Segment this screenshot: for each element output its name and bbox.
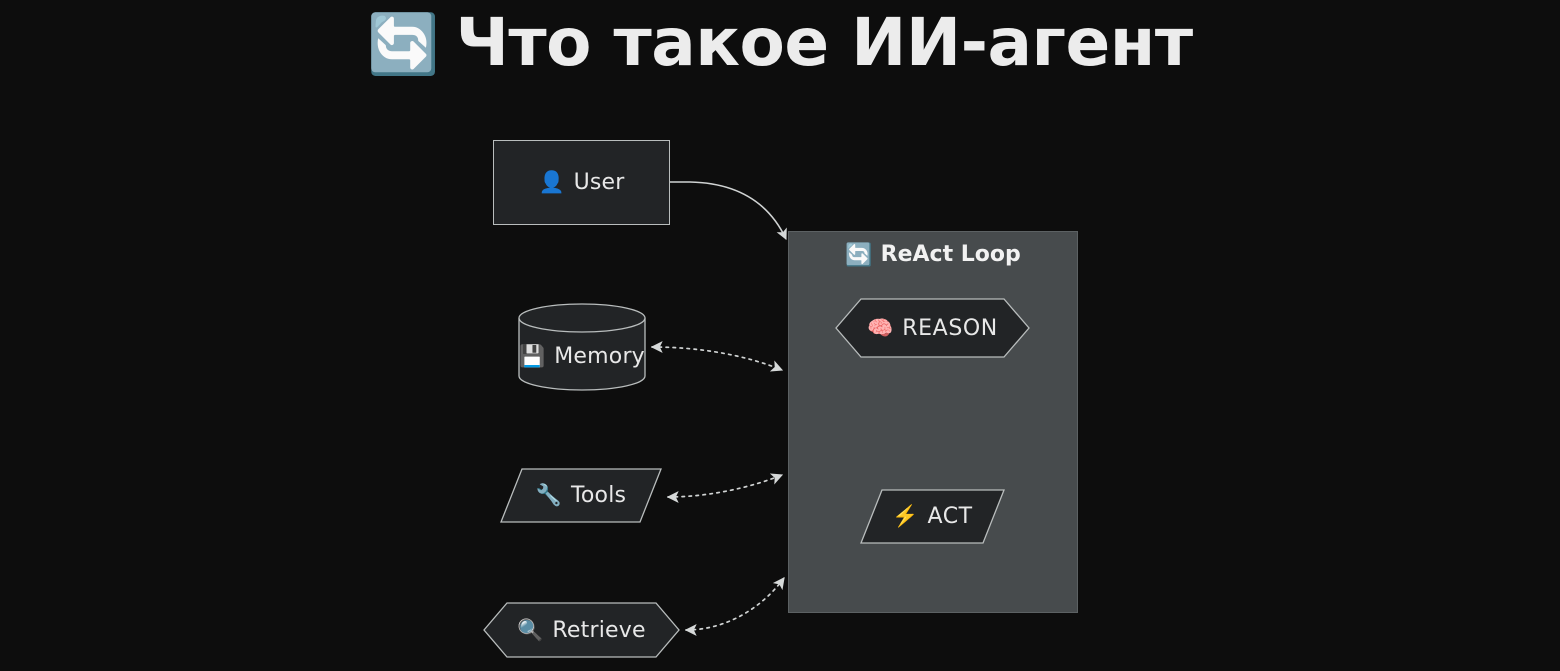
react-loop-container[interactable]: 🔄 ReAct Loop xyxy=(788,231,1078,613)
node-tools[interactable]: 🔧 Tools xyxy=(500,468,662,523)
edge-memory-react-loop xyxy=(652,347,782,370)
loop-icon: 🔄 xyxy=(845,244,872,266)
node-act[interactable]: ⚡ ACT xyxy=(860,489,1005,544)
react-loop-title: 🔄 ReAct Loop xyxy=(789,242,1077,267)
node-memory[interactable]: 💾 Memory xyxy=(518,303,646,391)
diagram-page: 🔄 Что такое ИИ-агент xyxy=(0,0,1560,671)
user-bust-icon: 👤 xyxy=(538,172,564,193)
edge-layer xyxy=(0,0,1560,671)
node-user[interactable]: 👤 User xyxy=(493,140,670,225)
cylinder-shape xyxy=(518,303,646,391)
node-user-label: User xyxy=(574,170,625,195)
react-loop-label: ReAct Loop xyxy=(881,242,1021,267)
hexagon-shape xyxy=(483,602,680,658)
edge-retrieve-react-loop xyxy=(686,578,784,630)
agent-flow-diagram: 🔄 ReAct Loop 👤 User 💾 Memory xyxy=(0,0,1560,671)
node-reason[interactable]: 🧠 REASON xyxy=(835,298,1030,358)
parallelogram-shape xyxy=(860,489,1005,544)
node-retrieve[interactable]: 🔍 Retrieve xyxy=(483,602,680,658)
edge-tools-react-loop xyxy=(668,475,782,497)
edge-user-to-react-loop xyxy=(670,182,786,239)
parallelogram-shape xyxy=(500,468,662,523)
hexagon-shape xyxy=(835,298,1030,358)
